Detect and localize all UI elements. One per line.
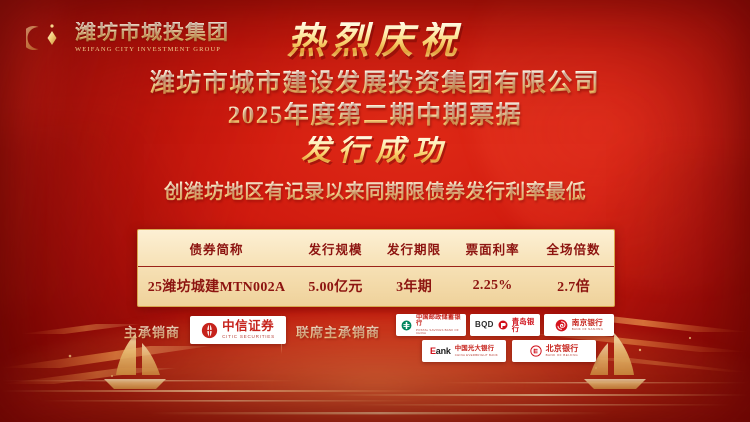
lead-underwriter-label: 主承销商: [124, 322, 180, 341]
logo-psbc-en: POSTAL SAVINGS BANK OF CHINA: [416, 329, 461, 335]
bqd-circle-emblem-icon: [498, 320, 508, 330]
company-name-line: 潍坊市城市建设发展投资集团有限公司: [0, 70, 750, 98]
success-title: 发行成功: [0, 136, 750, 166]
tagline: 创潍坊地区有记录以来同期限债券发行利率最低: [0, 175, 750, 204]
logo-beijing-cn: 北京银行: [546, 345, 579, 353]
logo-china-everbright-bank: Eank 中国光大银行 CHINA EVERBRIGHT BANK: [422, 340, 506, 362]
postal-savings-emblem-icon: [401, 320, 412, 331]
brand-name-cn: 潍坊市城投集团: [75, 22, 229, 43]
logo-everbright-wordmark: Eank: [430, 347, 451, 356]
citic-circle-emblem-icon: [201, 322, 218, 339]
logo-psbc-cn: 中国邮政储蓄银行: [416, 315, 461, 327]
logo-bank-of-qingdao: BQD 青岛银行: [470, 314, 540, 336]
logo-citic-securities: 中信证券 CITIC SECURITIES: [190, 316, 286, 344]
cell-coupon-rate: 2.25%: [452, 267, 533, 307]
bond-details-table: 债券简称 发行规模 发行期限 票面利率 全场倍数 25潍坊城建MTN002A 5…: [137, 229, 615, 307]
issue-name-line: 2025年度第二期中期票据: [0, 102, 750, 130]
logo-bank-of-beijing: 北京银行 BANK OF BEIJING: [512, 340, 596, 362]
logo-nanjing-cn: 南京银行: [572, 319, 603, 327]
nanjing-rose-emblem-icon: [555, 319, 568, 332]
brand-logo: 潍坊市城投集团 WEIFANG CITY INVESTMENT GROUP: [26, 18, 229, 58]
logo-nanjing-en: BANK OF NANJING: [572, 328, 603, 331]
table-header-row: 债券简称 发行规模 发行期限 票面利率 全场倍数: [138, 230, 614, 267]
column-header-coupon-rate: 票面利率: [452, 230, 533, 267]
logo-bqd-cn: 青岛银行: [512, 318, 535, 333]
column-header-issue-size: 发行规模: [295, 230, 376, 267]
column-header-bond-name: 债券简称: [138, 230, 295, 267]
logo-beijing-en: BANK OF BEIJING: [546, 354, 578, 357]
brand-name-en: WEIFANG CITY INVESTMENT GROUP: [75, 47, 229, 54]
logo-postal-savings-bank: 中国邮政储蓄银行 POSTAL SAVINGS BANK OF CHINA: [396, 314, 466, 336]
logo-citic-en: CITIC SECURITIES: [222, 335, 275, 340]
beijing-circle-emblem-icon: [530, 345, 542, 357]
column-header-issue-term: 发行期限: [376, 230, 452, 267]
logo-bqd-en: BQD: [475, 321, 494, 329]
logo-citic-cn: 中信证券: [222, 320, 274, 333]
celebration-banner: 潍坊市城投集团 WEIFANG CITY INVESTMENT GROUP 热烈…: [0, 0, 750, 422]
table-row: 25潍坊城建MTN002A 5.00亿元 3年期 2.25% 2.7倍: [138, 267, 614, 307]
sponsor-strip: 主承销商 联席主承销商 中信证券 CITIC SECURITIES: [0, 314, 750, 376]
logo-everbright-cn: 中国光大银行: [455, 346, 495, 352]
joint-underwriter-label: 联席主承销商: [296, 322, 380, 341]
logo-bank-of-nanjing: 南京银行 BANK OF NANJING: [544, 314, 614, 336]
crescent-diamond-emblem-icon: [26, 18, 66, 58]
cell-bond-name: 25潍坊城建MTN002A: [138, 267, 295, 307]
cell-issue-size: 5.00亿元: [295, 267, 376, 307]
column-header-subscription-multiple: 全场倍数: [533, 230, 614, 267]
cell-issue-term: 3年期: [376, 267, 452, 307]
cell-subscription-multiple: 2.7倍: [533, 267, 614, 307]
logo-everbright-en: CHINA EVERBRIGHT BANK: [455, 354, 498, 357]
